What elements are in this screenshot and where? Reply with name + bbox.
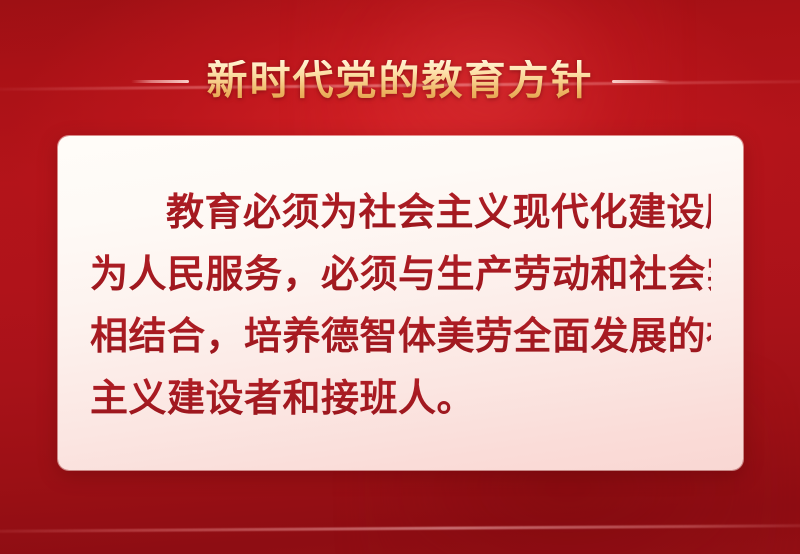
content-line: 教育必须为社会主义现代化建设服务、 [90,182,711,244]
content-card-body: 教育必须为社会主义现代化建设服务、 为人民服务，必须与生产劳动和社会实践 相结合… [90,182,711,430]
poster-title: 新时代党的教育方针 [207,60,594,102]
content-line: 为人民服务，必须与生产劳动和社会实践 [90,244,711,306]
poster-canvas: 新时代党的教育方针 教育必须为社会主义现代化建设服务、 为人民服务，必须与生产劳… [0,0,800,554]
content-line: 主义建设者和接班人。 [90,368,711,430]
poster-header: 新时代党的教育方针 [0,52,800,110]
background-light-streak-bottom [0,524,800,533]
title-rule-right-icon [612,80,670,83]
content-line: 相结合，培养德智体美劳全面发展的社会 [90,306,711,368]
content-card: 教育必须为社会主义现代化建设服务、 为人民服务，必须与生产劳动和社会实践 相结合… [58,136,743,470]
title-rule-left-icon [131,80,189,83]
